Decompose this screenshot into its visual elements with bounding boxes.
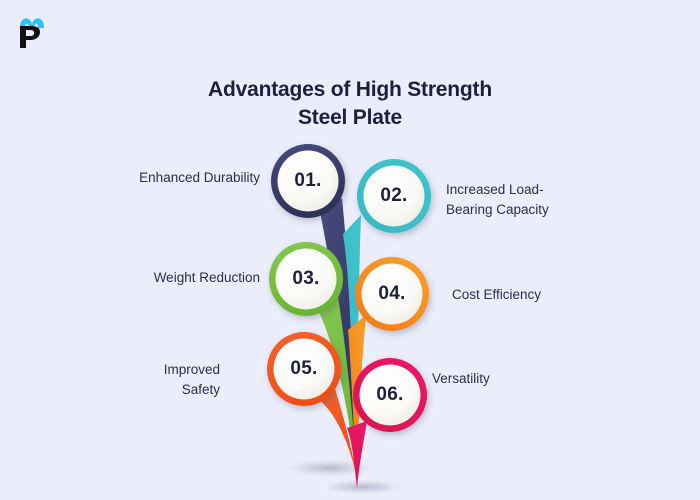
pin-04-disc	[362, 264, 423, 325]
pin-05-label-line-1: Improved	[95, 360, 220, 380]
pin-06-tail	[347, 421, 367, 488]
pin-02-label-line-1: Increased Load-	[446, 180, 616, 200]
infographic-canvas: Advantages of High Strength Steel Plate	[0, 0, 700, 500]
pin-04-label-line-1: Cost Efficiency	[452, 285, 622, 305]
pin-01-label: Enhanced Durability	[75, 168, 260, 188]
pin-06-label-line-1: Versatility	[432, 369, 602, 389]
pin-05-label: Improved Safety	[95, 360, 220, 399]
ground-shadow	[318, 479, 406, 495]
pin-05-label-line-2: Safety	[95, 380, 220, 400]
pin-02-label: Increased Load- Bearing Capacity	[446, 180, 616, 219]
pin-02-disc	[364, 166, 425, 227]
pin-06[interactable]	[347, 358, 427, 488]
pin-03-label: Weight Reduction	[85, 268, 260, 288]
pin-diagram	[0, 0, 700, 500]
pin-02-label-line-2: Bearing Capacity	[446, 200, 616, 220]
pin-01-disc	[278, 151, 339, 212]
ground-shadow	[282, 459, 378, 477]
pin-03-disc	[276, 249, 337, 310]
pin-06-label: Versatility	[432, 369, 602, 389]
pin-05-disc	[274, 339, 335, 400]
pin-03-label-line-1: Weight Reduction	[85, 268, 260, 288]
pin-01-label-line-1: Enhanced Durability	[75, 168, 260, 188]
pin-06-disc	[360, 365, 421, 426]
pin-04-label: Cost Efficiency	[452, 285, 622, 305]
